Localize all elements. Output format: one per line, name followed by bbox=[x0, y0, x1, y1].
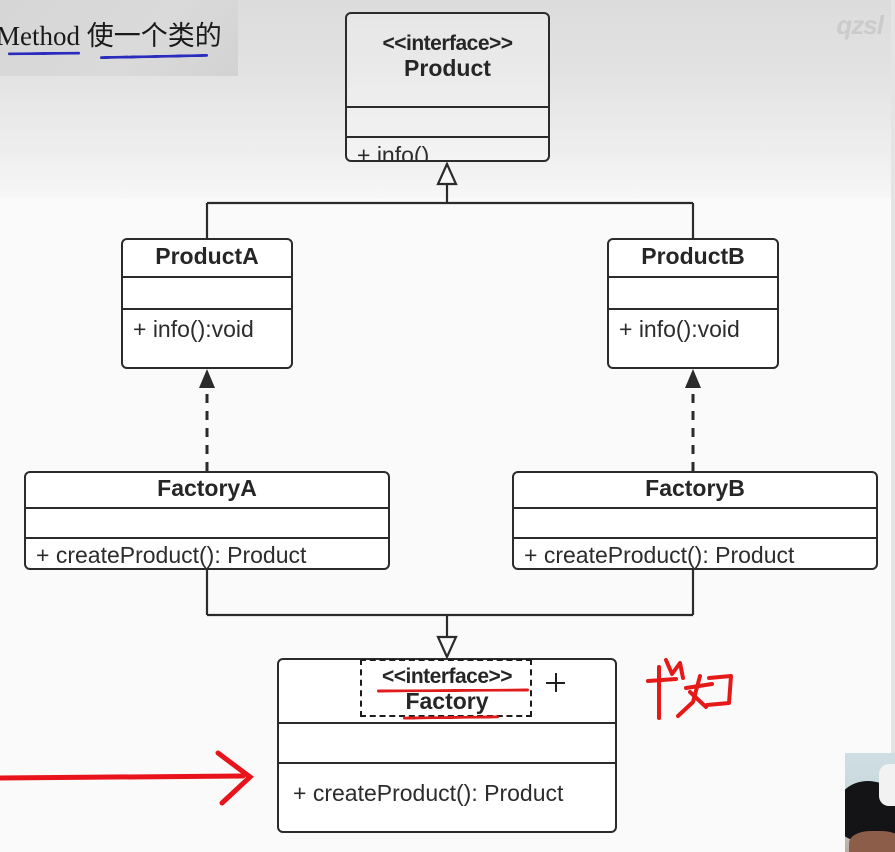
product-attributes bbox=[347, 108, 548, 136]
factoryb-header: FactoryB bbox=[514, 473, 876, 507]
productb-header: ProductB bbox=[609, 240, 777, 276]
factorya-header: FactoryA bbox=[26, 473, 388, 507]
product-operation: + info() bbox=[347, 138, 548, 162]
factory-attributes bbox=[279, 724, 615, 762]
uml-class-product[interactable]: <<interface>> Product + info() bbox=[345, 12, 550, 162]
uml-class-factorya[interactable]: FactoryA + createProduct(): Product bbox=[24, 471, 390, 570]
uml-class-productb[interactable]: ProductB + info():void bbox=[607, 238, 779, 369]
factoryb-operation: + createProduct(): Product bbox=[514, 539, 876, 570]
webcam-presenter-face bbox=[849, 831, 895, 852]
productb-classname: ProductB bbox=[613, 244, 773, 270]
webcam-white-panel bbox=[879, 764, 895, 806]
notes-text: Method 使一个类的 bbox=[0, 14, 222, 53]
notes-overlay-panel: Method 使一个类的 bbox=[0, 0, 238, 76]
uml-class-producta[interactable]: ProductA + info():void bbox=[121, 238, 293, 369]
producta-header: ProductA bbox=[123, 240, 291, 276]
webcam-overlay bbox=[845, 753, 895, 852]
factory-operation: + createProduct(): Product bbox=[279, 764, 615, 811]
crosshair-cursor-icon bbox=[546, 673, 565, 692]
producta-operation: + info():void bbox=[123, 310, 291, 347]
producta-attributes bbox=[123, 278, 291, 308]
watermark: qzsl bbox=[836, 10, 883, 41]
factorya-classname: FactoryA bbox=[30, 476, 384, 502]
productb-attributes bbox=[609, 278, 777, 308]
factorya-attributes bbox=[26, 509, 388, 537]
factoryb-attributes bbox=[514, 509, 876, 537]
product-classname: Product bbox=[351, 56, 544, 82]
productb-operation: + info():void bbox=[609, 310, 777, 347]
producta-classname: ProductA bbox=[127, 244, 287, 270]
notes-underline-2 bbox=[100, 54, 208, 59]
uml-class-factoryb[interactable]: FactoryB + createProduct(): Product bbox=[512, 471, 878, 570]
slide-canvas: Method 使一个类的 qzsl bbox=[0, 0, 895, 852]
product-stereotype: <<interface>> bbox=[351, 32, 544, 56]
right-edge-strip bbox=[891, 0, 895, 852]
notes-underline-1 bbox=[8, 52, 80, 56]
factorya-operation: + createProduct(): Product bbox=[26, 539, 388, 570]
factoryb-classname: FactoryB bbox=[518, 476, 872, 502]
product-header: <<interface>> Product bbox=[347, 14, 548, 106]
